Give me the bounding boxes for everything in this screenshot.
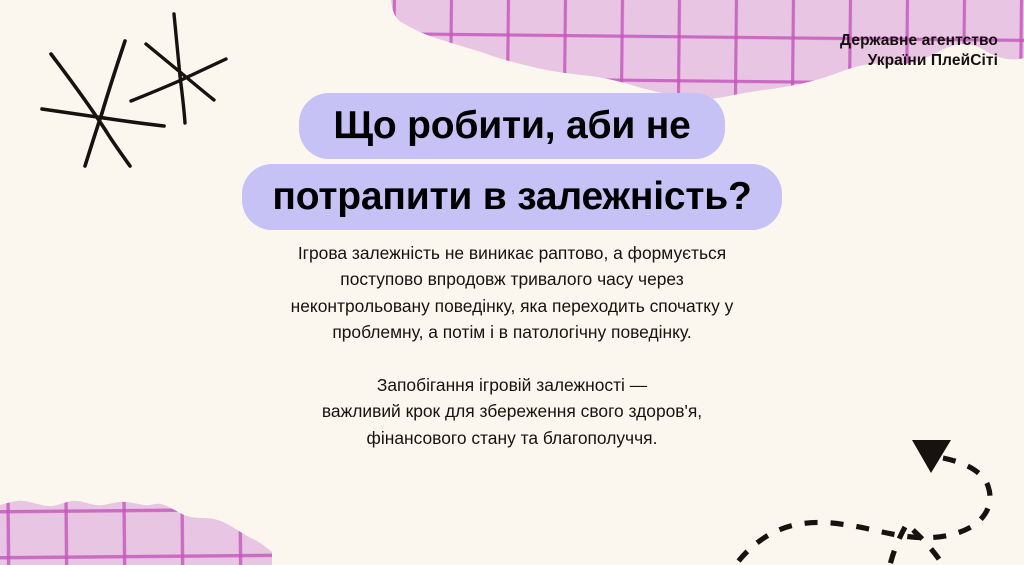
body-paragraph-2: Запобігання ігровій залежності — важливи… (0, 372, 1024, 451)
body-copy: Ігрова залежність не виникає раптово, а … (0, 240, 1024, 451)
title-line-1-wrap: Що робити, аби не (0, 93, 1024, 159)
page-title: Що робити, аби не потрапити в залежність… (0, 93, 1024, 230)
body-paragraph-1: Ігрова залежність не виникає раптово, а … (0, 240, 1024, 346)
logo-text: Державне агентство України ПлейСіті (840, 31, 998, 72)
slide-canvas: Державне агентство України ПлейСіті Що р… (0, 0, 1024, 565)
title-line-2-wrap: потрапити в залежність? (0, 164, 1024, 230)
title-line-1: Що робити, аби не (299, 93, 724, 159)
title-line-2: потрапити в залежність? (242, 164, 781, 230)
